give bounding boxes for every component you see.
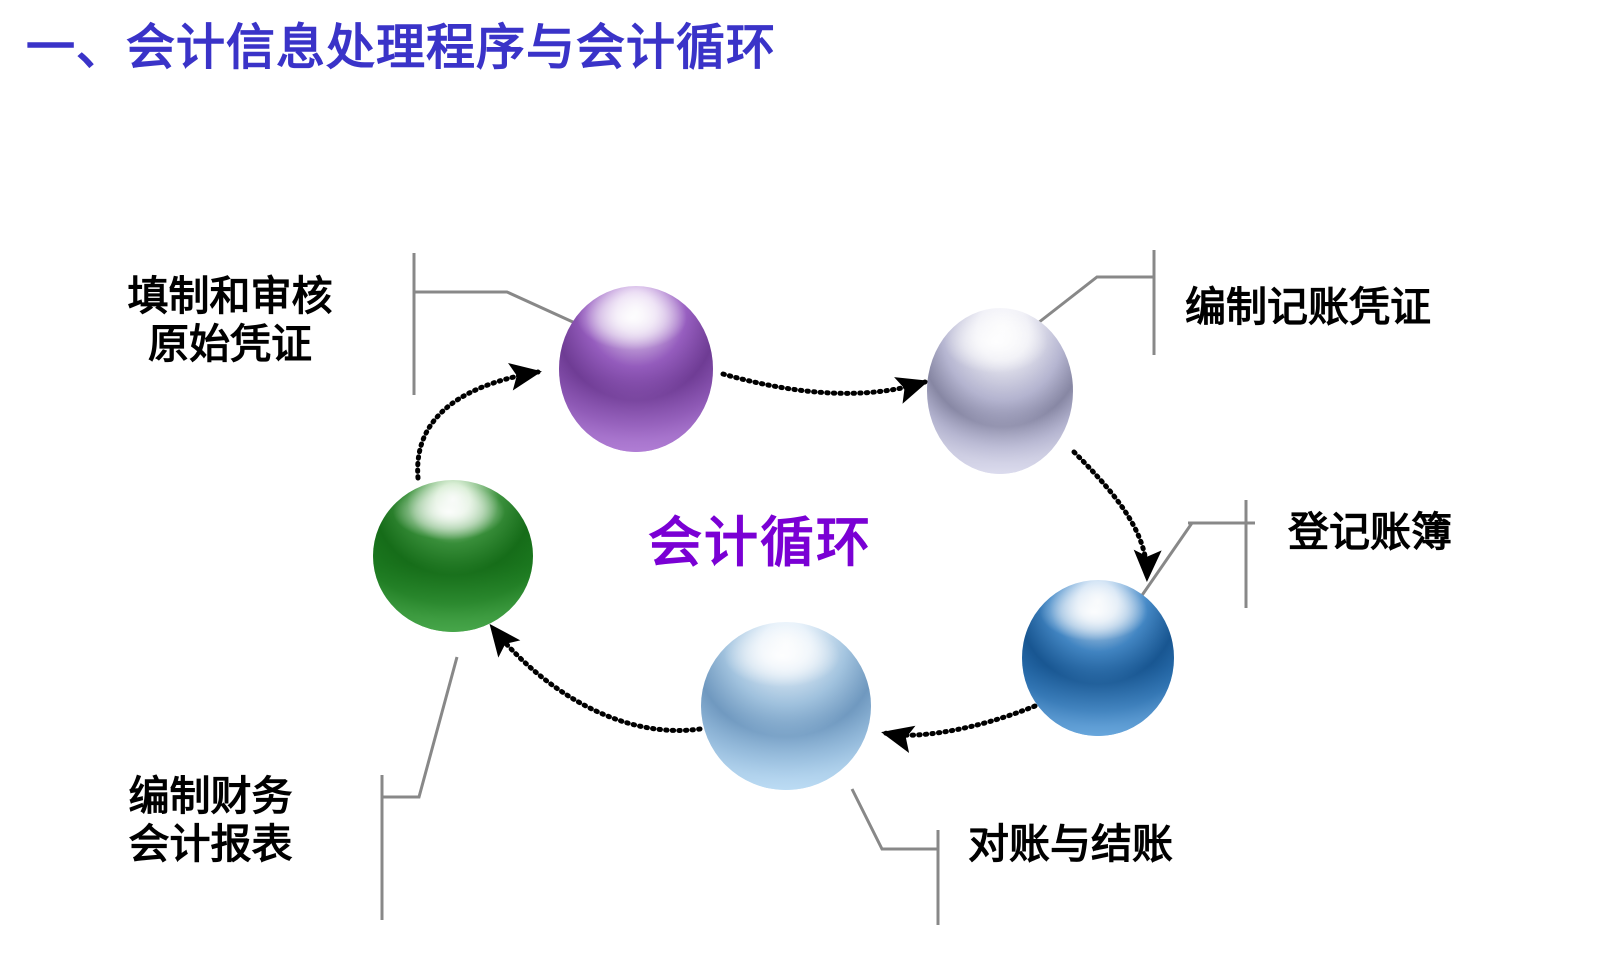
sphere-financial-statement[interactable] xyxy=(373,480,533,632)
leader-line-reconcile-close xyxy=(852,789,938,925)
leader-line-financial-statement xyxy=(382,657,457,920)
node-label-financial-statement: 编制财务 会计报表 xyxy=(78,772,343,869)
arrow-voucher-to-ledger xyxy=(1074,452,1147,578)
sphere-accounting-voucher[interactable] xyxy=(927,308,1073,474)
node-label-accounting-voucher: 编制记账凭证 xyxy=(1185,283,1431,331)
sphere-original-voucher[interactable] xyxy=(559,286,713,452)
arrow-ledger-to-reconcile xyxy=(885,706,1035,735)
node-label-reconcile-close: 对账与结账 xyxy=(968,820,1173,868)
arrow-original-to-voucher xyxy=(723,374,925,393)
arrow-reconcile-to-statement xyxy=(492,627,700,730)
sphere-reconcile-close[interactable] xyxy=(701,622,871,790)
slide-canvas: 一、会计信息处理程序与会计循环 xyxy=(0,0,1622,972)
arrow-statement-to-original xyxy=(418,372,538,478)
sphere-ledger-entry[interactable] xyxy=(1022,580,1174,736)
node-label-original-voucher: 填制和审核 原始凭证 xyxy=(80,272,380,369)
node-label-ledger-entry: 登记账簿 xyxy=(1288,508,1452,556)
diagram-center-label: 会计循环 xyxy=(648,498,872,577)
